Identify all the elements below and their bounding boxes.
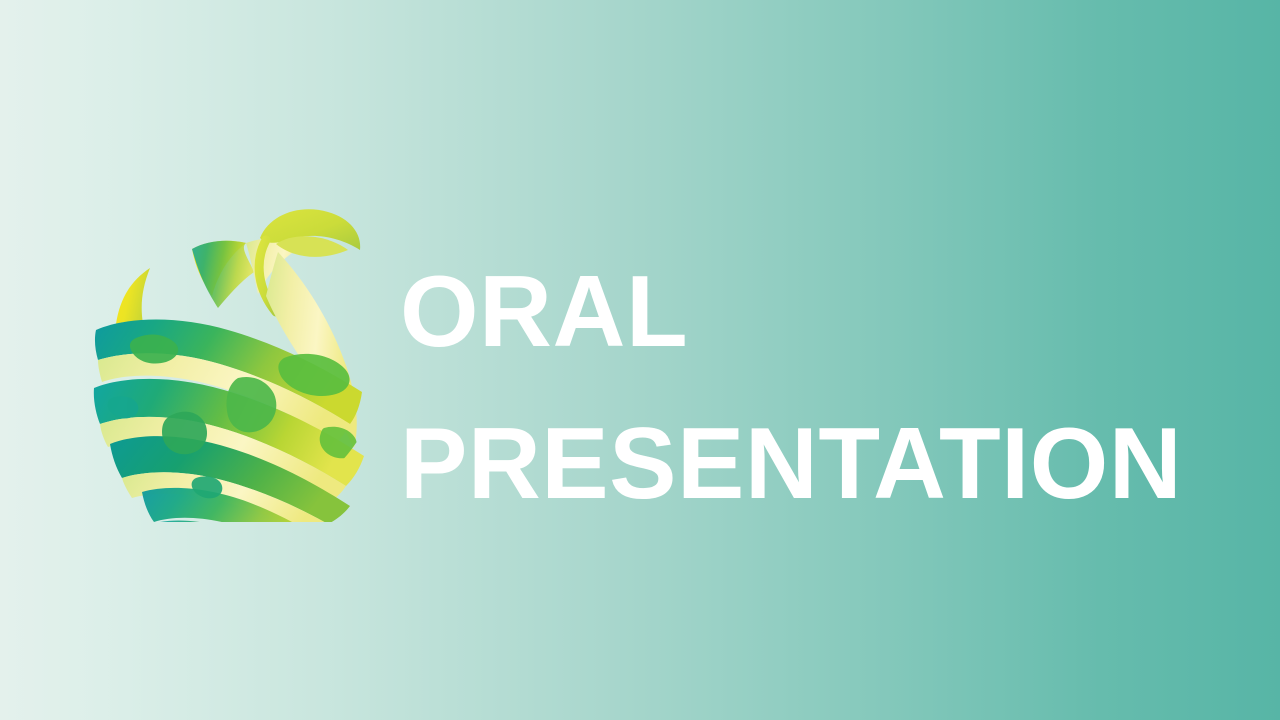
ribbon-tip-left xyxy=(116,268,150,324)
ribbon-tip-mid2 xyxy=(192,241,254,308)
title-line-1: ORAL xyxy=(400,236,1240,388)
slide-title: ORAL PRESENTATION xyxy=(400,236,1240,540)
slide-canvas: ORAL PRESENTATION xyxy=(0,0,1280,720)
title-line-2: PRESENTATION xyxy=(400,388,1240,540)
globe-ribbon-logo xyxy=(88,192,388,522)
continent-south xyxy=(162,412,207,455)
globe-ribbon-group xyxy=(94,209,364,522)
